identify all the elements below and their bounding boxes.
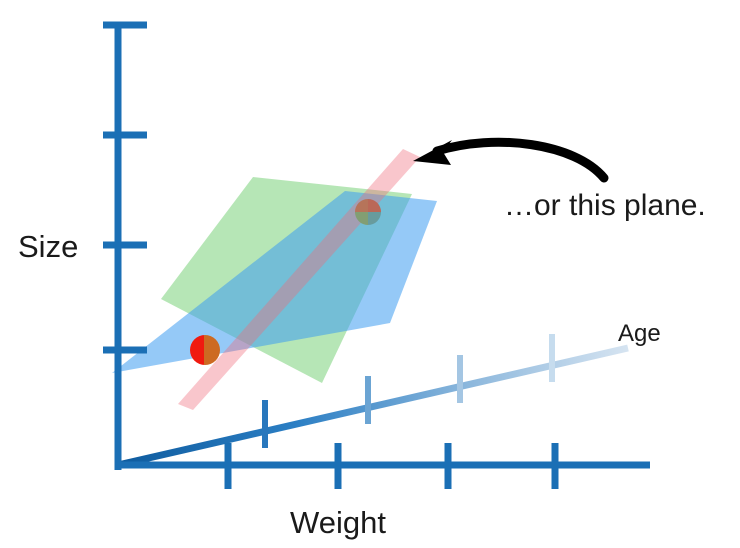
z-axis-label: Age xyxy=(618,320,661,347)
figure-canvas: Size Weight Age …or this plane. xyxy=(0,0,740,548)
curved-arrow-icon xyxy=(413,140,604,178)
plane-callout-text: …or this plane. xyxy=(504,189,706,222)
plane-group xyxy=(112,149,437,410)
three-dimensional-axes-diagram: Size Weight Age …or this plane. xyxy=(0,0,740,548)
y-axis-label: Size xyxy=(18,229,78,264)
y-axis-size xyxy=(103,25,147,470)
x-axis-label: Weight xyxy=(290,505,386,540)
